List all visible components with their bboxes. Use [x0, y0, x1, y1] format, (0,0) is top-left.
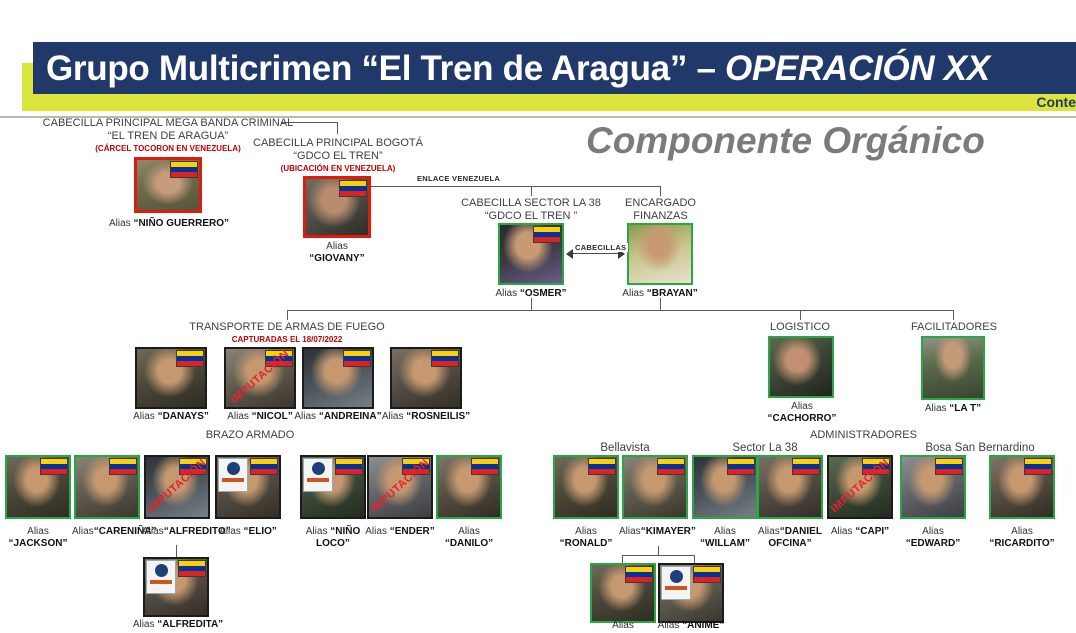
- photo-admin-member-label: Alias “WILLAM”: [689, 526, 761, 550]
- id-card-icon: [303, 458, 333, 492]
- role-brayan-line1: ENCARGADO: [608, 197, 713, 210]
- alias-prefix: Alias: [27, 526, 49, 537]
- alias-giovany-prefix: Alias: [282, 241, 392, 253]
- alias-value: “DANILO”: [445, 538, 493, 549]
- photo-admin-member[interactable]: [622, 455, 688, 519]
- alias-value: “ANIME”: [682, 620, 724, 631]
- alias-value: “ROSNEILIS”: [406, 411, 470, 422]
- connector-enlace-h: [371, 186, 531, 187]
- photo-brazo-member-label: Alias “DANILO”: [434, 526, 504, 550]
- group-title-logistico: LOGISTICO: [745, 321, 855, 334]
- venezuela-flag-icon: [693, 566, 721, 583]
- venezuela-flag-icon: [178, 560, 206, 577]
- venezuela-flag-icon: [792, 458, 820, 475]
- photo-brazo-member-label: Alias“CARENIÑA”: [72, 526, 142, 538]
- group-title-bosa: Bosa San Bernardino: [915, 442, 1045, 455]
- alias-value: “JACKSON”: [9, 538, 68, 549]
- role-giovany-line2: “GDCO EL TREN”: [243, 150, 433, 163]
- venezuela-flag-icon: [533, 226, 561, 243]
- page-title-plain: Grupo Multicrimen “El Tren de Aragua” –: [46, 49, 725, 88]
- venezuela-flag-icon: [265, 350, 293, 367]
- alias-prefix: Alias: [612, 620, 634, 631]
- venezuela-flag-icon: [109, 458, 137, 475]
- photo-kimayer-child-label: Alias “HUESOS”: [588, 620, 658, 633]
- connector-kimayer-bus: [622, 555, 694, 556]
- venezuela-flag-icon: [657, 458, 685, 475]
- photo-transporte-member-label: Alias “DANAYS”: [126, 411, 216, 423]
- photo-osmer[interactable]: [498, 223, 564, 285]
- photo-admin-member[interactable]: [757, 455, 823, 519]
- photo-cachorro[interactable]: [768, 336, 834, 398]
- venezuela-flag-icon: [343, 350, 371, 367]
- group-title-transporte: TRANSPORTE DE ARMAS DE FUEGO: [167, 321, 407, 334]
- photo-kimayer-child[interactable]: [590, 563, 656, 623]
- venezuela-flag-icon: [625, 566, 653, 583]
- group-title-sector-la38: Sector La 38: [715, 442, 815, 455]
- alias-prefix: Alias: [382, 411, 406, 422]
- photo-admin-member[interactable]: IMPUTACIÓN: [827, 455, 893, 519]
- venezuela-flag-icon: [250, 458, 278, 475]
- alias-cachorro-prefix: Alias: [752, 401, 852, 413]
- photo-brazo-member-label: Alias “NIÑO LOCO”: [298, 526, 368, 550]
- venezuela-flag-icon: [727, 458, 755, 475]
- id-card-icon: [661, 566, 691, 600]
- connector-label-cabecillas: CABECILLAS: [573, 243, 628, 252]
- venezuela-flag-icon: [40, 458, 68, 475]
- alias-value: “ANDREINA”: [319, 411, 382, 422]
- alias-prefix: Alias: [619, 526, 641, 537]
- connector-enlace-h2: [531, 186, 661, 187]
- connector-alfredita-drop: [176, 545, 177, 557]
- photo-transporte-member[interactable]: [390, 347, 462, 409]
- page-title: Grupo Multicrimen “El Tren de Aragua” – …: [46, 44, 1076, 94]
- alias-prefix: Alias: [142, 526, 164, 537]
- venezuela-flag-icon: [588, 458, 616, 475]
- photo-brazo-member[interactable]: [74, 455, 140, 519]
- venezuela-flag-icon: [402, 458, 430, 475]
- photo-transporte-member[interactable]: [135, 347, 207, 409]
- alias-value: “ENDER”: [390, 526, 435, 537]
- photo-admin-member[interactable]: [553, 455, 619, 519]
- venezuela-flag-icon: [862, 458, 890, 475]
- photo-brazo-member-label: Alias “ENDER”: [365, 526, 435, 538]
- alias-prefix: Alias: [714, 526, 736, 537]
- venezuela-flag-icon: [935, 458, 963, 475]
- photo-kimayer-child[interactable]: [658, 563, 724, 623]
- alias-prefix: Alias: [758, 526, 780, 537]
- photo-brazo-member-label: Alias “ELIO”: [213, 526, 283, 538]
- venezuela-flag-icon: [335, 458, 363, 475]
- connector-cabecillas-h: [572, 253, 620, 254]
- photo-la-t[interactable]: [921, 336, 985, 400]
- photo-admin-member-label: Alias “EDWARD”: [897, 526, 969, 550]
- venezuela-flag-icon: [431, 350, 459, 367]
- section-title: Componente Orgánico: [586, 120, 1056, 162]
- role-nino-guerrero-line1: CABECILLA PRINCIPAL MEGA BANDA CRIMINAL: [28, 117, 308, 130]
- photo-brazo-member[interactable]: IMPUTACIÓN: [367, 455, 433, 519]
- photo-admin-member-label: Alias“KIMAYER”: [619, 526, 691, 538]
- connector-osmer-drop: [531, 186, 532, 196]
- photo-alfredita[interactable]: [143, 557, 209, 617]
- role-osmer-line1: CABECILLA SECTOR LA 38: [441, 197, 621, 210]
- alias-value: “KIMAYER”: [641, 526, 696, 537]
- group-title-facilitadores: FACILITADORES: [898, 321, 1010, 334]
- alias-prefix: Alias: [922, 526, 944, 537]
- photo-kimayer-child-label: Alias “ANIME”: [656, 620, 726, 632]
- connector-logistico-drop: [800, 310, 801, 320]
- page-title-italic: OPERACIÓN XX: [725, 49, 990, 88]
- connector-huesos-drop: [622, 555, 623, 563]
- alias-value: “DANAYS”: [158, 411, 209, 422]
- connector-anime-drop: [694, 555, 695, 563]
- slide-canvas: Grupo Multicrimen “El Tren de Aragua” – …: [0, 0, 1076, 633]
- photo-brazo-member[interactable]: IMPUTACIÓN: [144, 455, 210, 519]
- photo-brazo-member[interactable]: [215, 455, 281, 519]
- alias-prefix: Alias: [365, 526, 389, 537]
- group-title-administradores: ADMINISTRADORES: [810, 429, 970, 442]
- photo-transporte-member-label: Alias “ANDREINA”: [293, 411, 383, 423]
- photo-transporte-member-label: Alias “ROSNEILIS”: [381, 411, 471, 423]
- photo-admin-member-label: Alias “RICARDITO”: [986, 526, 1058, 550]
- alias-prefix: Alias: [133, 411, 157, 422]
- alias-value: “NICOL”: [252, 411, 293, 422]
- photo-brazo-member-label: Alias“ALFREDITO”: [142, 526, 212, 538]
- photo-transporte-member-label: Alias “NICOL”: [215, 411, 305, 423]
- alias-prefix: Alias: [227, 411, 251, 422]
- photo-brazo-member-label: Alias “JACKSON”: [3, 526, 73, 550]
- alias-prefix: Alias: [133, 619, 157, 630]
- alias-la-t: Alias “LA T”: [903, 403, 1003, 415]
- connector-h-top: [281, 122, 338, 123]
- venezuela-flag-icon: [170, 161, 198, 178]
- photo-admin-member[interactable]: [692, 455, 758, 519]
- group-title-brazo-armado: BRAZO ARMADO: [190, 429, 310, 442]
- alias-giovany: “GIOVANY”: [282, 253, 392, 265]
- venezuela-flag-icon: [179, 458, 207, 475]
- alias-prefix: Alias: [831, 526, 855, 537]
- venezuela-flag-icon: [339, 180, 367, 197]
- alias-value: “CAPI”: [855, 526, 889, 537]
- alias-value: “ELIO”: [244, 526, 277, 537]
- alias-prefix: Alias: [294, 411, 318, 422]
- alias-prefix: Alias: [1011, 526, 1033, 537]
- group-title-bellavista: Bellavista: [580, 442, 670, 455]
- header-subtitle: Conte: [956, 92, 1076, 112]
- venezuela-flag-icon: [471, 458, 499, 475]
- alias-prefix: Alias: [575, 526, 597, 537]
- photo-brazo-member[interactable]: [436, 455, 502, 519]
- alias-cachorro: “CACHORRO”: [752, 413, 852, 425]
- photo-transporte-member[interactable]: [302, 347, 374, 409]
- photo-brazo-member[interactable]: [300, 455, 366, 519]
- venezuela-flag-icon: [1024, 458, 1052, 475]
- alias-prefix: Alias: [458, 526, 480, 537]
- connector-transporte-drop: [287, 310, 288, 320]
- photo-nino-guerrero[interactable]: [134, 157, 202, 213]
- alias-prefix: Alias: [658, 620, 682, 631]
- connector-brayan-down: [660, 298, 661, 310]
- photo-brazo-member[interactable]: [5, 455, 71, 519]
- id-card-icon: [146, 560, 176, 594]
- photo-admin-member-label: Alias“DANIEL OFCINA”: [754, 526, 826, 550]
- connector-main-bus: [287, 310, 954, 311]
- photo-transporte-member[interactable]: IMPUTACIÓN: [224, 347, 296, 409]
- note-giovany: (UBICACIÓN EN VENEZUELA): [243, 164, 433, 174]
- alias-prefix: Alias: [306, 526, 330, 537]
- connector-osmer-down: [531, 298, 532, 310]
- alias-value: “RICARDITO”: [989, 538, 1054, 549]
- photo-admin-member[interactable]: [900, 455, 966, 519]
- connector-v-top: [337, 122, 338, 134]
- alias-value: “EDWARD”: [906, 538, 960, 549]
- alias-value: “RONALD”: [560, 538, 613, 549]
- photo-alfredita-label: Alias “ALFREDITA”: [128, 619, 228, 631]
- connector-brayan-drop: [660, 186, 661, 196]
- alias-prefix: Alias: [219, 526, 243, 537]
- face-highlight: [923, 338, 983, 398]
- connector-kimayer-drop: [658, 546, 659, 555]
- photo-giovany[interactable]: [303, 176, 371, 238]
- venezuela-flag-icon: [176, 350, 204, 367]
- alias-value: “WILLAM”: [700, 538, 750, 549]
- face-highlight: [629, 225, 691, 283]
- alias-prefix: Alias: [72, 526, 94, 537]
- alias-nino-guerrero: Alias “NIÑO GUERRERO”: [104, 218, 234, 230]
- photo-brayan[interactable]: [627, 223, 693, 285]
- group-note-transporte: CAPTURADAS EL 18/07/2022: [167, 335, 407, 345]
- connector-label-enlace: ENLACE VENEZUELA: [415, 174, 502, 183]
- face-highlight: [770, 338, 832, 396]
- role-brayan-line2: FINANZAS: [608, 210, 713, 223]
- id-card-icon: [218, 458, 248, 492]
- alias-value: “ALFREDITA”: [157, 619, 223, 630]
- arrow-left-icon: [566, 249, 573, 259]
- photo-admin-member[interactable]: [989, 455, 1055, 519]
- photo-admin-member-label: Alias “CAPI”: [824, 526, 896, 538]
- role-giovany-line1: CABECILLA PRINCIPAL BOGOTÁ: [243, 137, 433, 150]
- connector-facilitadores-drop: [953, 310, 954, 320]
- role-osmer-line2: “GDCO EL TREN ”: [441, 210, 621, 223]
- photo-admin-member-label: Alias “RONALD”: [550, 526, 622, 550]
